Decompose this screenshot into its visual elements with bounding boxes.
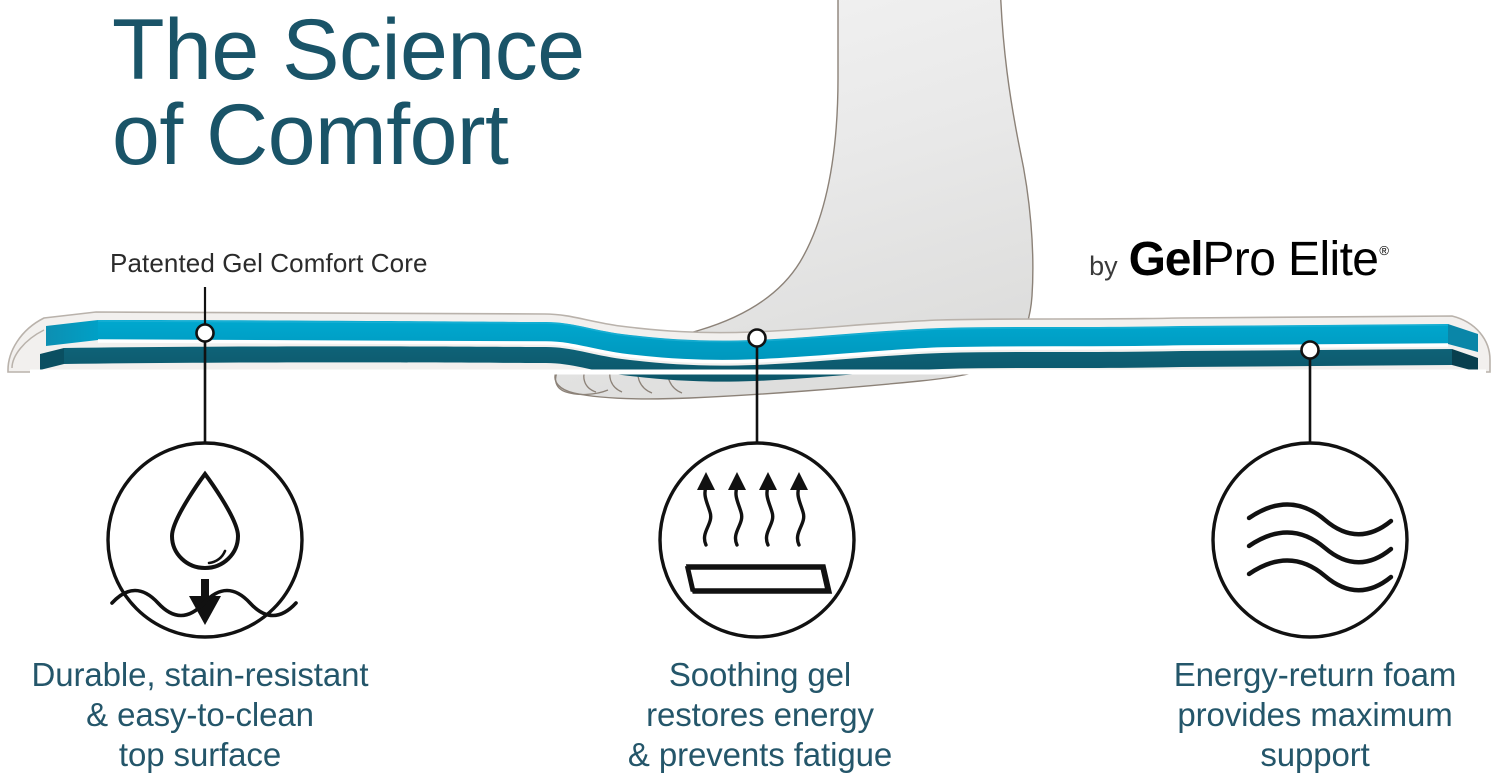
registered-trademark-icon: ®: [1379, 243, 1389, 258]
feature-caption-energy-return: Energy-return foam provides maximum supp…: [1115, 655, 1500, 775]
brand-gel-text: Gel: [1129, 232, 1203, 287]
brand-lockup: by Gel Pro Elite ®: [1089, 232, 1388, 287]
brand-pro-elite-text: Pro Elite: [1202, 232, 1378, 287]
patented-gel-comfort-core-label: Patented Gel Comfort Core: [110, 248, 428, 279]
page-title: The Science of Comfort: [112, 8, 752, 178]
water-droplet-absorb-icon: [108, 443, 302, 637]
brand-by-text: by: [1089, 251, 1118, 282]
callout-dot-foam: [1302, 342, 1319, 444]
wavy-lines-foam-icon: [1213, 443, 1407, 637]
feature-caption-durable: Durable, stain-resistant & easy-to-clean…: [0, 655, 400, 775]
feature-caption-soothing-gel: Soothing gel restores energy & prevents …: [565, 655, 955, 775]
rising-energy-arrows-icon: [660, 443, 854, 637]
science-of-comfort-infographic: The Science of Comfort Patented Gel Comf…: [0, 0, 1500, 778]
